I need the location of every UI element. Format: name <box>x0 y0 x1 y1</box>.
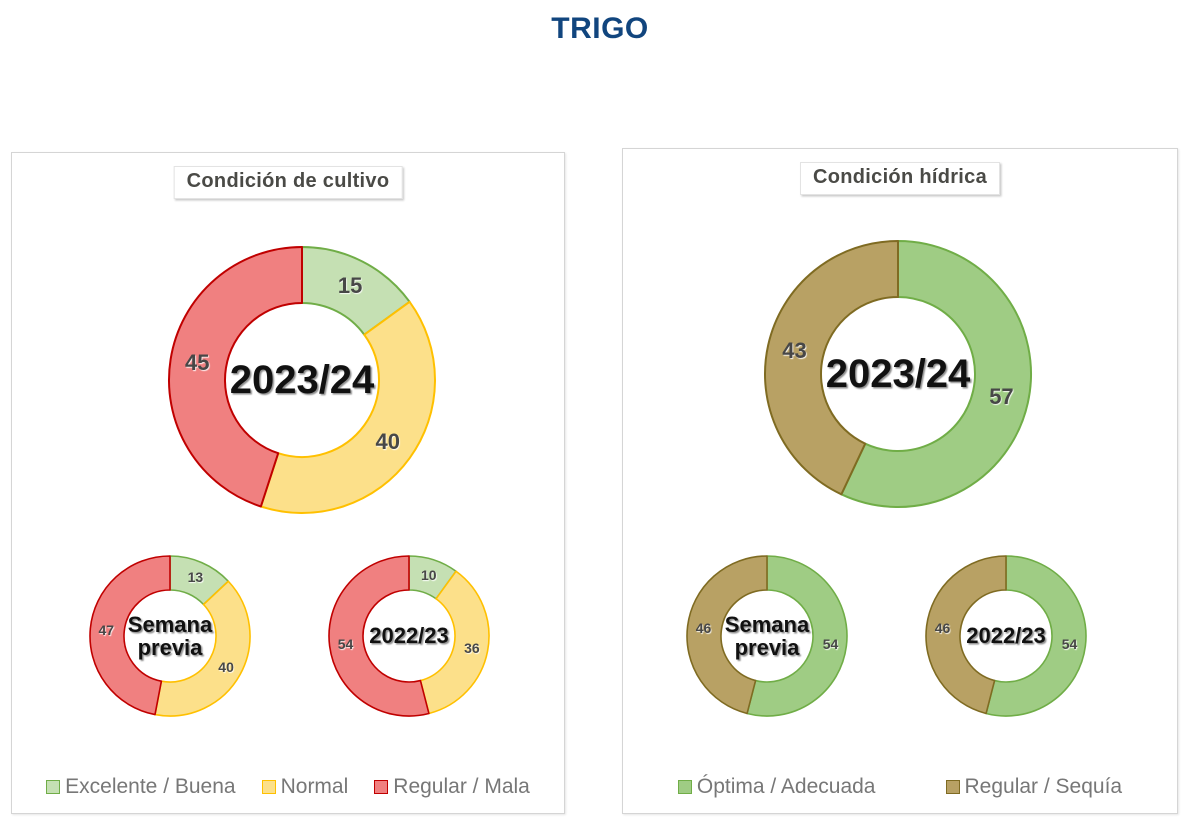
slice-value-label: 57 <box>989 384 1013 410</box>
slice-value-label: 47 <box>98 622 114 638</box>
slice-value-label: 15 <box>338 273 362 299</box>
legend-item[interactable]: Óptima / Adecuada <box>678 775 876 799</box>
slice-value-label: 36 <box>464 640 480 656</box>
slice-value-label: 46 <box>935 620 951 636</box>
legend-item[interactable]: Regular / Mala <box>374 775 530 799</box>
legend-item[interactable]: Excelente / Buena <box>46 775 235 799</box>
legend-swatch-icon <box>262 780 276 794</box>
slice-value-label: 40 <box>376 429 400 455</box>
legend-label: Regular / Sequía <box>965 775 1123 799</box>
legend-label: Excelente / Buena <box>65 775 235 799</box>
legend-swatch-icon <box>946 780 960 794</box>
donut-slice <box>261 302 435 513</box>
slice-value-label: 54 <box>338 636 354 652</box>
donut-chart: 1036542022/23 <box>326 553 492 719</box>
slice-value-label: 54 <box>823 636 839 652</box>
donut-chart: 57432023/24 <box>762 238 1034 510</box>
slice-value-label: 45 <box>185 350 209 376</box>
slice-value-label: 10 <box>421 567 437 583</box>
donut-chart: 1540452023/24 <box>166 244 438 516</box>
legend-label: Normal <box>281 775 349 799</box>
legend-swatch-icon <box>46 780 60 794</box>
legend-item[interactable]: Normal <box>262 775 349 799</box>
panel-header-condicion-de-cultivo: Condición de cultivo <box>174 166 403 199</box>
legend-swatch-icon <box>678 780 692 794</box>
legend-label: Regular / Mala <box>393 775 530 799</box>
slice-value-label: 46 <box>696 620 712 636</box>
donut-chart: 54462022/23 <box>923 553 1089 719</box>
panel-condicion-hidrica: Condición hídrica 57432023/245446Semanap… <box>622 148 1178 814</box>
slice-value-label: 13 <box>188 569 204 585</box>
legend-swatch-icon <box>374 780 388 794</box>
legend-condicion-hidrica: Óptima / AdecuadaRegular / Sequía <box>623 775 1177 799</box>
page-title: TRIGO <box>0 12 1200 46</box>
slice-value-label: 54 <box>1062 636 1078 652</box>
slice-value-label: 43 <box>782 338 806 364</box>
slice-value-label: 40 <box>218 659 234 675</box>
panel-condicion-de-cultivo: Condición de cultivo 1540452023/24134047… <box>11 152 565 814</box>
legend-condicion-de-cultivo: Excelente / BuenaNormalRegular / Mala <box>12 775 564 799</box>
donut-chart: 5446Semanaprevia <box>684 553 850 719</box>
panel-header-condicion-hidrica: Condición hídrica <box>800 162 1000 195</box>
chart-page: TRIGO Condición de cultivo 1540452023/24… <box>0 0 1200 824</box>
legend-label: Óptima / Adecuada <box>697 775 876 799</box>
legend-item[interactable]: Regular / Sequía <box>946 775 1123 799</box>
donut-chart: 134047Semanaprevia <box>87 553 253 719</box>
